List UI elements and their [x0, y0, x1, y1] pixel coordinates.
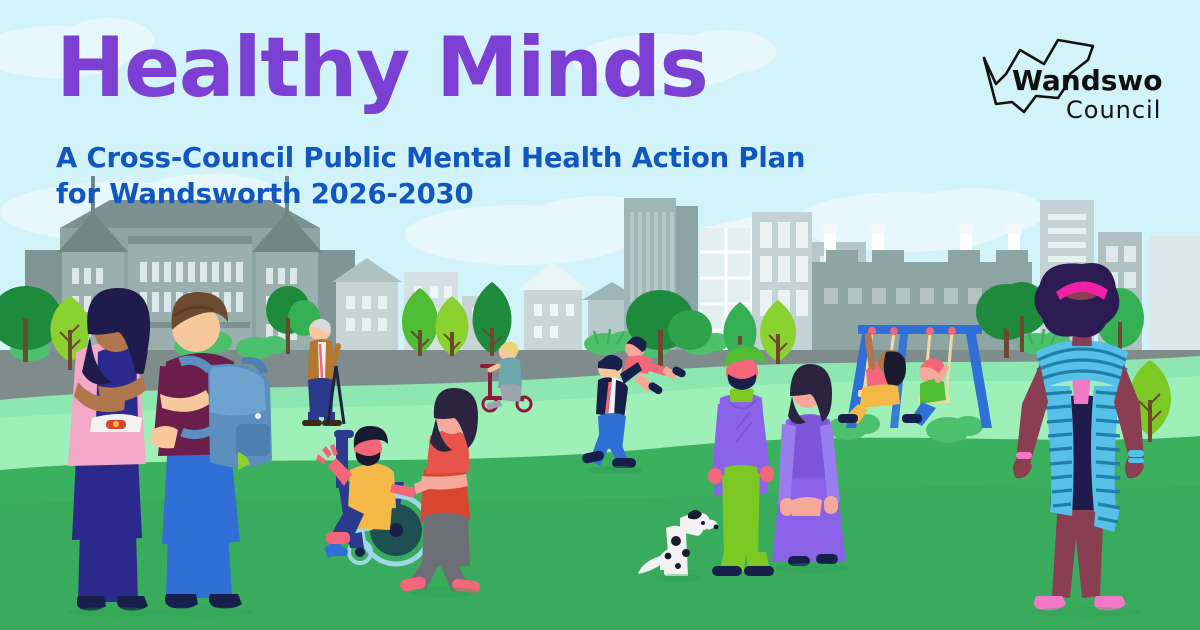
logo-primary-word: Wandsworth [1012, 64, 1162, 97]
bracelet-right [1128, 450, 1144, 457]
bracelet-left [1016, 452, 1032, 459]
page-subtitle: A Cross-Council Public Mental Health Act… [56, 140, 805, 213]
poster-canvas: Healthy Minds A Cross-Council Public Men… [0, 0, 1200, 630]
wandsworth-council-logo[interactable]: Wandsworth Council [962, 26, 1162, 138]
logo-secondary-word: Council [1066, 96, 1161, 124]
page-title: Healthy Minds [56, 28, 707, 108]
